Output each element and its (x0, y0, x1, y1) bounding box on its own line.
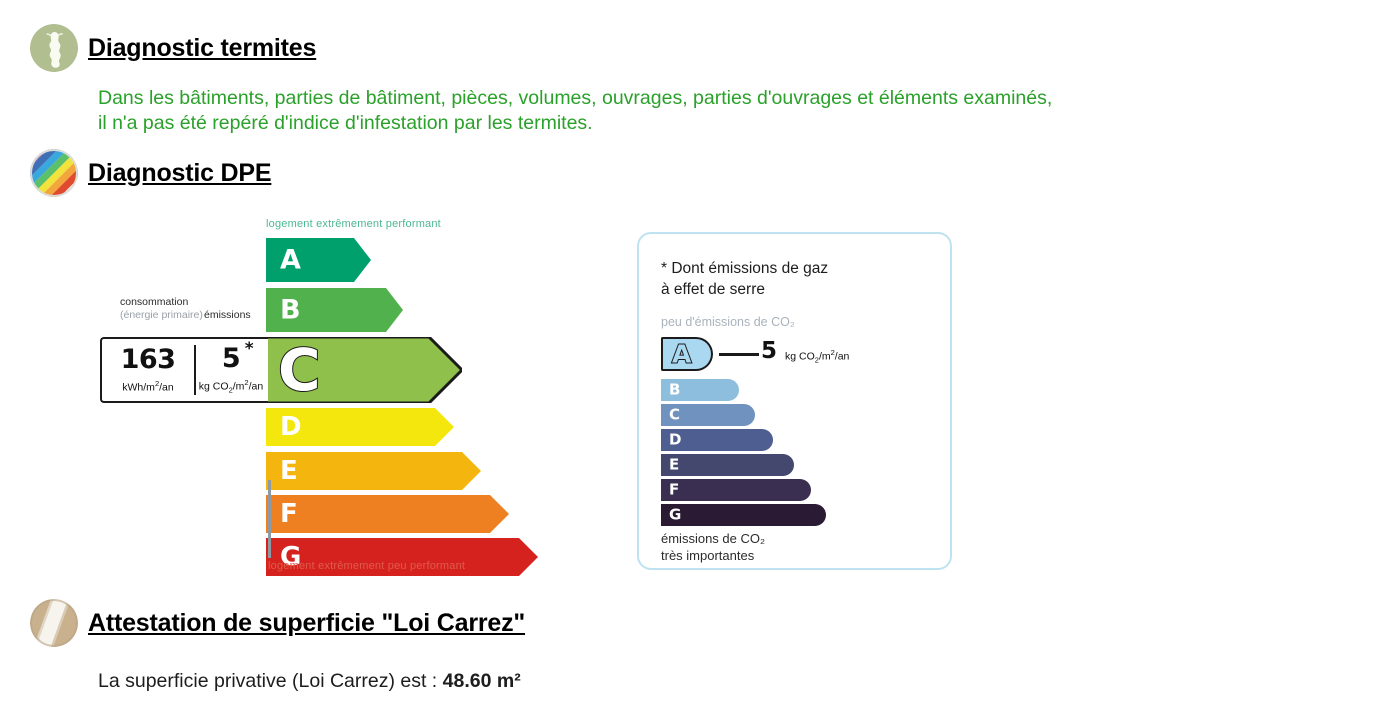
rainbow-icon (30, 149, 78, 197)
co2-bar-letter-e: E (669, 458, 679, 473)
label-consumption-line1: consommation (120, 296, 188, 308)
co2-unit: kg CO2/m2/an (785, 348, 849, 365)
co2-caption-top: peu d'émissions de CO₂ (661, 315, 795, 329)
energy-bar-e: E (266, 452, 481, 490)
co2-bar-c: C (661, 404, 755, 426)
co2-caption-bottom-line1: émissions de CO₂ (661, 531, 765, 546)
co2-value: 5 (761, 340, 777, 363)
co2-bar-a-selected: A (661, 337, 713, 371)
asterisk-marker: * (245, 341, 253, 358)
dpe-ges-value-cell: 5* kg CO2/m2/an (194, 339, 268, 401)
page-title-termites: Diagnostic termites (88, 34, 316, 63)
dpe-energy-value-cell: 163 kWh/m2/an (102, 339, 194, 401)
chart-caption-top: logement extrêmement performant (266, 218, 441, 230)
termites-description-line1: Dans les bâtiments, parties de bâtiment,… (98, 86, 1052, 111)
co2-panel-note: * Dont émissions de gaz à effet de serre (661, 258, 828, 300)
chart-caption-bottom: logement extrêmement peu performant (268, 560, 465, 572)
dpe-energy-unit: kWh/m2/an (122, 379, 173, 394)
energy-bar-letter-a: A (280, 247, 301, 274)
co2-bar-letter-f: F (669, 483, 679, 498)
co2-emissions-panel: * Dont émissions de gaz à effet de serre… (637, 232, 952, 570)
co2-bar-letter-b: B (669, 383, 680, 398)
energy-bar-letter-c: C (278, 341, 321, 399)
co2-bar-e: E (661, 454, 794, 476)
termites-description-line2: il n'a pas été repéré d'indice d'infesta… (98, 111, 1052, 136)
energy-bar-letter-f: F (280, 501, 298, 527)
section-header-dpe: Diagnostic DPE (30, 149, 271, 197)
co2-bar-g: G (661, 504, 826, 526)
chart-side-rule (268, 480, 271, 558)
co2-bar-b: B (661, 379, 739, 401)
energy-bar-d: D (266, 408, 454, 446)
co2-bar-letter-d: D (669, 433, 681, 448)
termites-description: Dans les bâtiments, parties de bâtiment,… (98, 86, 1052, 136)
co2-bar-f: F (661, 479, 811, 501)
label-consumption: consommation (énergie primaire) (120, 296, 203, 321)
energy-bar-c-selected: C (266, 337, 462, 403)
co2-panel-note-line2: à effet de serre (661, 281, 765, 298)
dpe-energy-chart: logement extrêmement performant A B C (100, 212, 630, 580)
dpe-ges-unit: kg CO2/m2/an (199, 378, 263, 395)
co2-caption-bottom: émissions de CO₂ très importantes (661, 530, 765, 564)
energy-bar-b: B (266, 288, 403, 332)
co2-bar-letter-c: C (669, 408, 680, 423)
co2-bar-letter-g: G (669, 508, 681, 523)
label-emissions: émissions (204, 309, 251, 321)
energy-bar-letter-b: B (280, 297, 301, 324)
diagnostics-page: Diagnostic termites Dans les bâtiments, … (0, 0, 1400, 722)
co2-connector-line (719, 353, 759, 356)
co2-bar-letter-a: A (672, 342, 691, 367)
co2-panel-note-line1: * Dont émissions de gaz (661, 260, 828, 277)
energy-bar-f: F (266, 495, 509, 533)
termite-icon (30, 24, 78, 72)
energy-bar-a: A (266, 238, 371, 282)
energy-bar-letter-e: E (280, 458, 298, 484)
carrez-surface-prefix: La superficie privative (Loi Carrez) est… (98, 670, 443, 692)
section-header-carrez: Attestation de superficie "Loi Carrez" (30, 599, 525, 647)
dpe-ges-value: 5* (222, 345, 240, 372)
co2-bar-d: D (661, 429, 773, 451)
dpe-value-box: 163 kWh/m2/an 5* kg CO2/m2/an (100, 337, 268, 403)
label-consumption-line2: (énergie primaire) (120, 309, 203, 321)
dpe-energy-value: 163 (121, 346, 176, 373)
carrez-surface-text: La superficie privative (Loi Carrez) est… (98, 670, 521, 693)
co2-caption-bottom-line2: très importantes (661, 548, 754, 563)
section-header-termites: Diagnostic termites (30, 24, 316, 72)
page-title-dpe: Diagnostic DPE (88, 159, 271, 188)
measuring-tape-icon (30, 599, 78, 647)
energy-bar-letter-d: D (280, 414, 302, 440)
page-title-carrez: Attestation de superficie "Loi Carrez" (88, 609, 525, 638)
carrez-surface-value: 48.60 m² (443, 670, 521, 692)
